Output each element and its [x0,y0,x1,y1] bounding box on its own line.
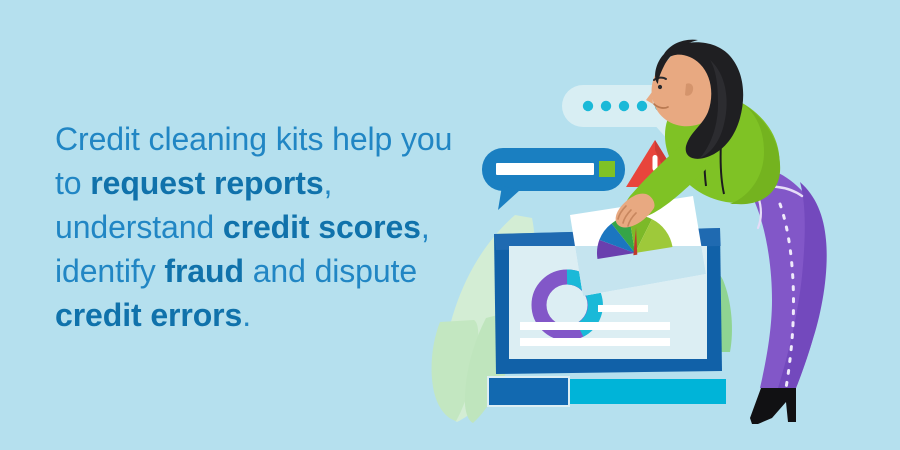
headline-emphasis: credit scores [223,209,421,245]
bubble-dot [601,101,611,111]
headline-text: Credit cleaning kits help you to request… [55,117,455,337]
search-submit-button[interactable] [599,161,615,177]
woman-shoe [750,388,796,424]
laptop-base-blue [488,377,569,406]
headline-plain: . [242,297,251,333]
bubble-dot [583,101,593,111]
search-input[interactable] [496,163,594,175]
headline-emphasis: fraud [164,253,244,289]
headline-emphasis: request reports [90,165,323,201]
woman-pants [750,170,827,388]
woman-head [646,40,743,159]
headline-plain: and dispute [244,253,417,289]
headline-rich: Credit cleaning kits help you to request… [55,121,452,333]
bubble-dot [619,101,629,111]
headline-emphasis: credit errors [55,297,242,333]
illustration [420,0,900,450]
bubble-dot [637,101,647,111]
promo-banner: Credit cleaning kits help you to request… [0,0,900,450]
speech-bubble-search[interactable] [482,148,625,210]
